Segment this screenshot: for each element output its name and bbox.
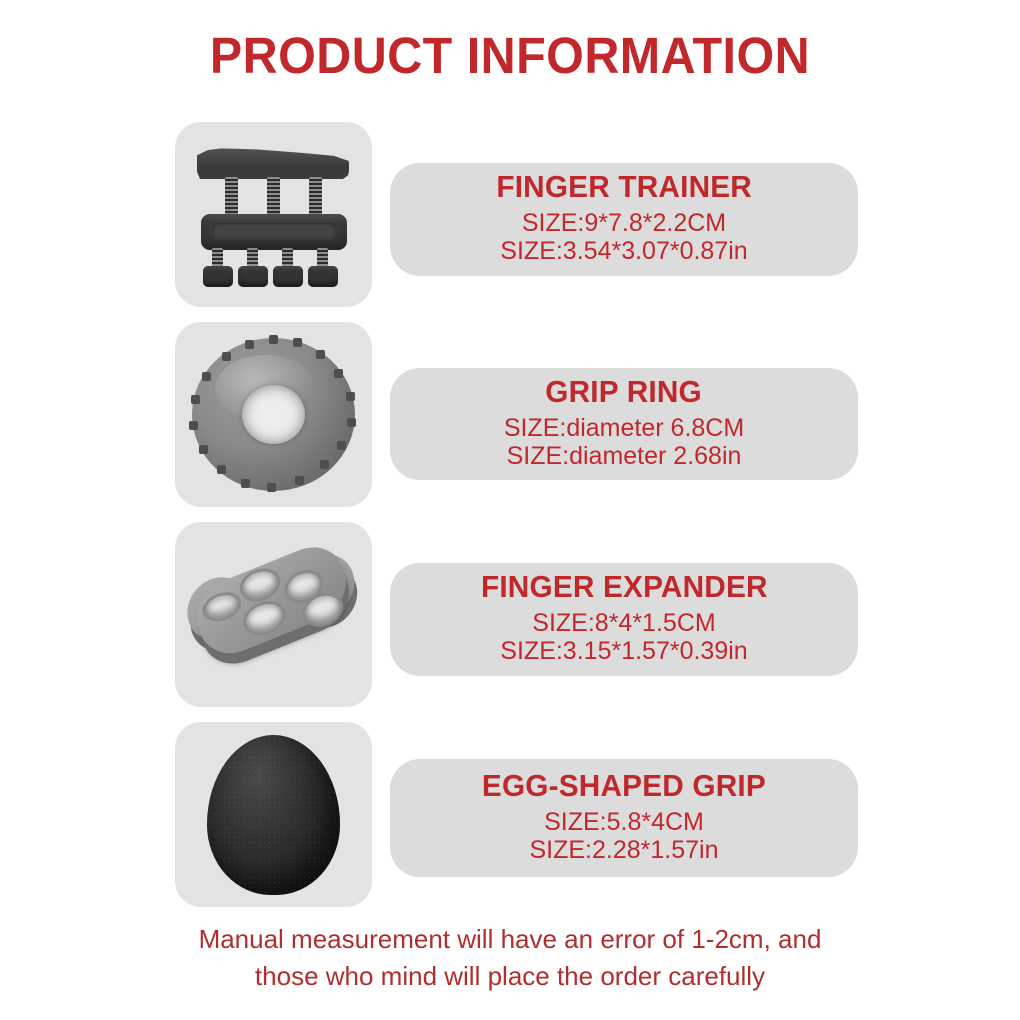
product-row: FINGER EXPANDER SIZE:8*4*1.5CM SIZE:3.15… — [0, 522, 1020, 707]
product-size-metric: SIZE:diameter 6.8CM — [504, 414, 744, 442]
egg-shaped-grip-photo — [175, 722, 372, 907]
product-size-metric: SIZE:5.8*4CM — [544, 808, 704, 836]
ring-nub — [222, 352, 231, 361]
ring-nub — [199, 445, 208, 454]
product-size-imperial: SIZE:3.15*1.57*0.39in — [500, 637, 747, 665]
finger-pad — [273, 266, 303, 287]
ring-nub — [241, 479, 250, 488]
spring-icon — [309, 177, 322, 215]
finger-trainer-photo — [175, 122, 372, 307]
ring-nub — [293, 338, 302, 347]
product-label-panel: GRIP RING SIZE:diameter 6.8CM SIZE:diame… — [390, 368, 858, 480]
disclaimer-line-1: Manual measurement will have an error of… — [110, 921, 910, 958]
product-list: FINGER TRAINER SIZE:9*7.8*2.2CM SIZE:3.5… — [0, 122, 1020, 922]
finger-pad — [238, 266, 268, 287]
product-image-tile — [175, 122, 372, 307]
measurement-disclaimer: Manual measurement will have an error of… — [0, 921, 1020, 995]
egg-texture — [207, 735, 340, 895]
spring-icon — [267, 177, 280, 215]
page-title: PRODUCT INFORMATION — [26, 26, 995, 85]
product-image-tile — [175, 722, 372, 907]
product-size-imperial: SIZE:diameter 2.68in — [507, 442, 742, 470]
spring-icon — [225, 177, 238, 215]
product-label-panel: FINGER EXPANDER SIZE:8*4*1.5CM SIZE:3.15… — [390, 563, 858, 676]
product-row: FINGER TRAINER SIZE:9*7.8*2.2CM SIZE:3.5… — [0, 122, 1020, 307]
trainer-body-block — [201, 214, 347, 250]
product-size-metric: SIZE:8*4*1.5CM — [532, 609, 715, 637]
product-name: EGG-SHAPED GRIP — [482, 770, 766, 803]
product-row: EGG-SHAPED GRIP SIZE:5.8*4CM SIZE:2.28*1… — [0, 722, 1020, 907]
ring-nub — [202, 372, 211, 381]
ring-nub — [191, 395, 200, 404]
product-label-panel: FINGER TRAINER SIZE:9*7.8*2.2CM SIZE:3.5… — [390, 163, 858, 276]
finger-pad — [308, 266, 338, 287]
ring-nub — [267, 483, 276, 492]
product-name: GRIP RING — [546, 376, 703, 409]
finger-pad — [203, 266, 233, 287]
ring-nub — [189, 421, 198, 430]
disclaimer-line-2: those who mind will place the order care… — [110, 958, 910, 995]
product-image-tile — [175, 322, 372, 507]
finger-expander-photo — [175, 522, 372, 707]
ring-nub — [245, 340, 254, 349]
ring-nub — [316, 350, 325, 359]
product-name: FINGER TRAINER — [496, 171, 752, 204]
ring-nub — [334, 369, 343, 378]
grip-ring-photo — [175, 322, 372, 507]
ring-nub — [337, 441, 346, 450]
product-size-metric: SIZE:9*7.8*2.2CM — [522, 209, 726, 237]
product-row: GRIP RING SIZE:diameter 6.8CM SIZE:diame… — [0, 322, 1020, 507]
product-size-imperial: SIZE:2.28*1.57in — [529, 836, 718, 864]
ring-nub — [320, 460, 329, 469]
product-image-tile — [175, 522, 372, 707]
product-label-panel: EGG-SHAPED GRIP SIZE:5.8*4CM SIZE:2.28*1… — [390, 759, 858, 877]
ring-nub — [269, 335, 278, 344]
product-size-imperial: SIZE:3.54*3.07*0.87in — [500, 237, 747, 265]
ring-nub — [217, 465, 226, 474]
ring-nub — [346, 392, 355, 401]
ring-nub — [295, 476, 304, 485]
product-name: FINGER EXPANDER — [481, 571, 768, 604]
ring-nub — [347, 418, 356, 427]
ring-hole — [242, 385, 306, 445]
